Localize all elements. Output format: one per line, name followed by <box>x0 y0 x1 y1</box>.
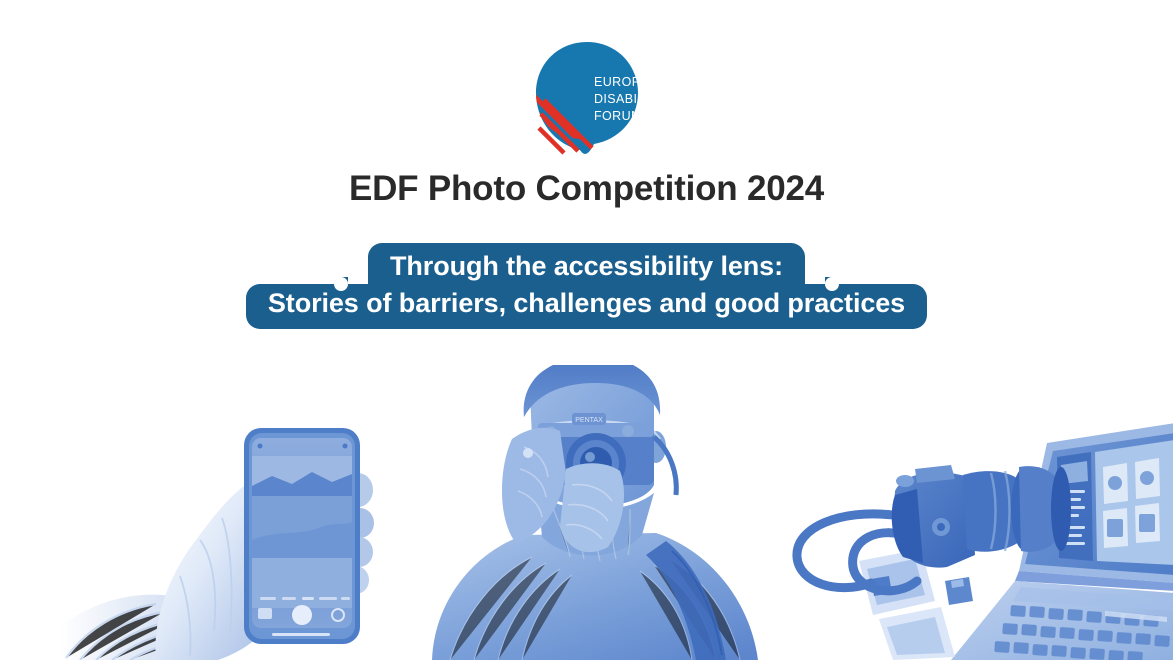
editor-canvas <box>1095 440 1173 565</box>
logo-text-line1: EUROPEAN <box>594 75 646 89</box>
subtitle-line-1-row: Through the accessibility lens: <box>0 243 1173 285</box>
gallery-thumbnail <box>258 608 272 619</box>
photo-gear <box>775 415 1173 660</box>
page-title: EDF Photo Competition 2024 <box>0 167 1173 211</box>
logo-text-line2: DISABILITY <box>594 92 646 106</box>
sd-card <box>945 577 973 605</box>
subtitle-line-2: Stories of barriers, challenges and good… <box>246 284 927 328</box>
shutter-button <box>292 605 312 625</box>
photo-person: PENTAX <box>420 365 770 660</box>
dslr-mode-dial <box>896 475 914 487</box>
logo-text-line3: FORUM <box>594 109 642 123</box>
camera-brand-text: PENTAX <box>575 417 603 424</box>
viewfinder-foreground <box>252 558 352 608</box>
ring <box>523 448 533 458</box>
camera-mode-strip <box>260 597 350 600</box>
camera-film-advance <box>622 425 634 437</box>
photo-strip: PENTAX <box>0 360 1173 660</box>
poster-canvas: EUROPEAN DISABILITY FORUM EDF Photo Comp… <box>0 0 1173 660</box>
subtitle-banner: Through the accessibility lens: Stories … <box>0 243 1173 329</box>
front-camera-dot <box>258 444 263 449</box>
photo-phone <box>60 390 440 660</box>
subtitle-line-2-row: Stories of barriers, challenges and good… <box>0 284 1173 328</box>
sensor-dot <box>343 444 348 449</box>
smartphone <box>244 428 360 644</box>
logo-container: EUROPEAN DISABILITY FORUM <box>0 38 1173 156</box>
european-disability-forum-logo: EUROPEAN DISABILITY FORUM <box>528 38 646 156</box>
subtitle-line-1: Through the accessibility lens: <box>368 243 805 285</box>
home-indicator <box>272 633 330 636</box>
